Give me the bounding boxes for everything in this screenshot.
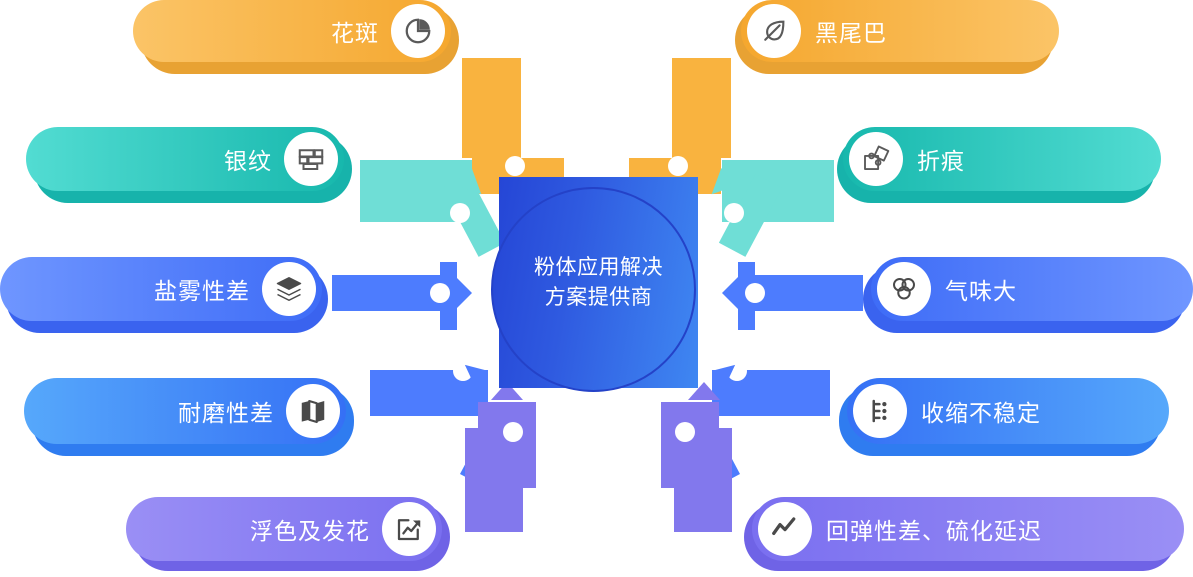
pill-body[interactable]: 花斑: [133, 0, 451, 62]
connector-row2-left: [360, 160, 500, 260]
connector-row5-left: [465, 392, 575, 532]
node-shou-suo-bu-wen-ding[interactable]: 收缩不稳定: [839, 378, 1169, 462]
pill-body[interactable]: 黑尾巴: [741, 0, 1059, 62]
node-hui-tan-xing-cha[interactable]: 回弹性差、硫化延迟: [744, 497, 1184, 575]
connector-node-dot: [668, 156, 688, 176]
layers-icon: [262, 262, 316, 316]
connector-segment-vertical-inner: [478, 402, 536, 488]
connector-node-dot: [745, 283, 765, 303]
node-yin-wen[interactable]: 银纹: [26, 127, 352, 207]
connector-row3-left: [332, 262, 492, 328]
center-hub: 粉体应用解决 方案提供商: [499, 177, 698, 388]
sitemap-icon: [853, 384, 907, 438]
pill-body[interactable]: 折痕: [843, 127, 1161, 191]
node-fu-se-ji-fa-hua[interactable]: 浮色及发花: [126, 497, 450, 575]
node-hua-ban[interactable]: 花斑: [133, 0, 459, 74]
node-qi-wei-da[interactable]: 气味大: [863, 257, 1193, 337]
leaf-icon: [747, 4, 801, 58]
arrow-head-icon: [456, 277, 472, 309]
pill-body[interactable]: 浮色及发花: [126, 497, 442, 561]
pill-label: 浮色及发花: [250, 512, 370, 546]
pill-body[interactable]: 气味大: [871, 257, 1193, 321]
line-chart-icon: [758, 502, 812, 556]
connector-node-dot: [675, 422, 695, 442]
node-yan-wu-xing-cha[interactable]: 盐雾性差: [0, 257, 330, 337]
pill-body[interactable]: 回弹性差、硫化延迟: [752, 497, 1184, 561]
connector-node-dot: [450, 203, 470, 223]
trend-up-box-icon: [382, 502, 436, 556]
pill-body[interactable]: 银纹: [26, 127, 344, 191]
open-book-icon: [286, 384, 340, 438]
pill-label: 盐雾性差: [154, 272, 250, 306]
pill-body[interactable]: 收缩不稳定: [847, 378, 1169, 444]
connector-segment-vertical-inner: [661, 402, 719, 488]
connector-row3-right: [703, 262, 863, 328]
connector-node-dot: [724, 203, 744, 223]
recycle-icon: [877, 262, 931, 316]
connector-segment-vertical: [672, 58, 731, 158]
pill-label: 气味大: [945, 272, 1017, 306]
pie-chart-icon: [391, 4, 445, 58]
node-hei-wei-ba[interactable]: 黑尾巴: [735, 0, 1061, 74]
pill-label: 银纹: [224, 142, 272, 176]
connector-segment-vertical: [462, 58, 521, 158]
pill-label: 耐磨性差: [178, 394, 274, 428]
node-nai-mo-xing-cha[interactable]: 耐磨性差: [24, 378, 354, 462]
brick-wall-icon: [284, 132, 338, 186]
pill-body[interactable]: 耐磨性差: [24, 378, 346, 444]
pill-body[interactable]: 盐雾性差: [0, 257, 322, 321]
connector-node-dot: [505, 156, 525, 176]
connector-node-dot: [430, 283, 450, 303]
pill-label: 折痕: [917, 142, 965, 176]
connector-row2-right: [694, 160, 834, 260]
puzzle-piece-icon: [849, 132, 903, 186]
node-zhe-hen[interactable]: 折痕: [837, 127, 1163, 207]
arrow-head-icon: [722, 277, 738, 309]
connector-node-dot: [503, 422, 523, 442]
pill-label: 收缩不稳定: [921, 394, 1041, 428]
pill-label: 黑尾巴: [815, 14, 887, 48]
diagram-canvas: 粉体应用解决 方案提供商 花斑: [0, 0, 1193, 577]
pill-label: 回弹性差、硫化延迟: [826, 512, 1042, 546]
center-label: 粉体应用解决 方案提供商: [499, 177, 698, 388]
connector-row5-right: [622, 392, 732, 532]
pill-label: 花斑: [331, 14, 379, 48]
